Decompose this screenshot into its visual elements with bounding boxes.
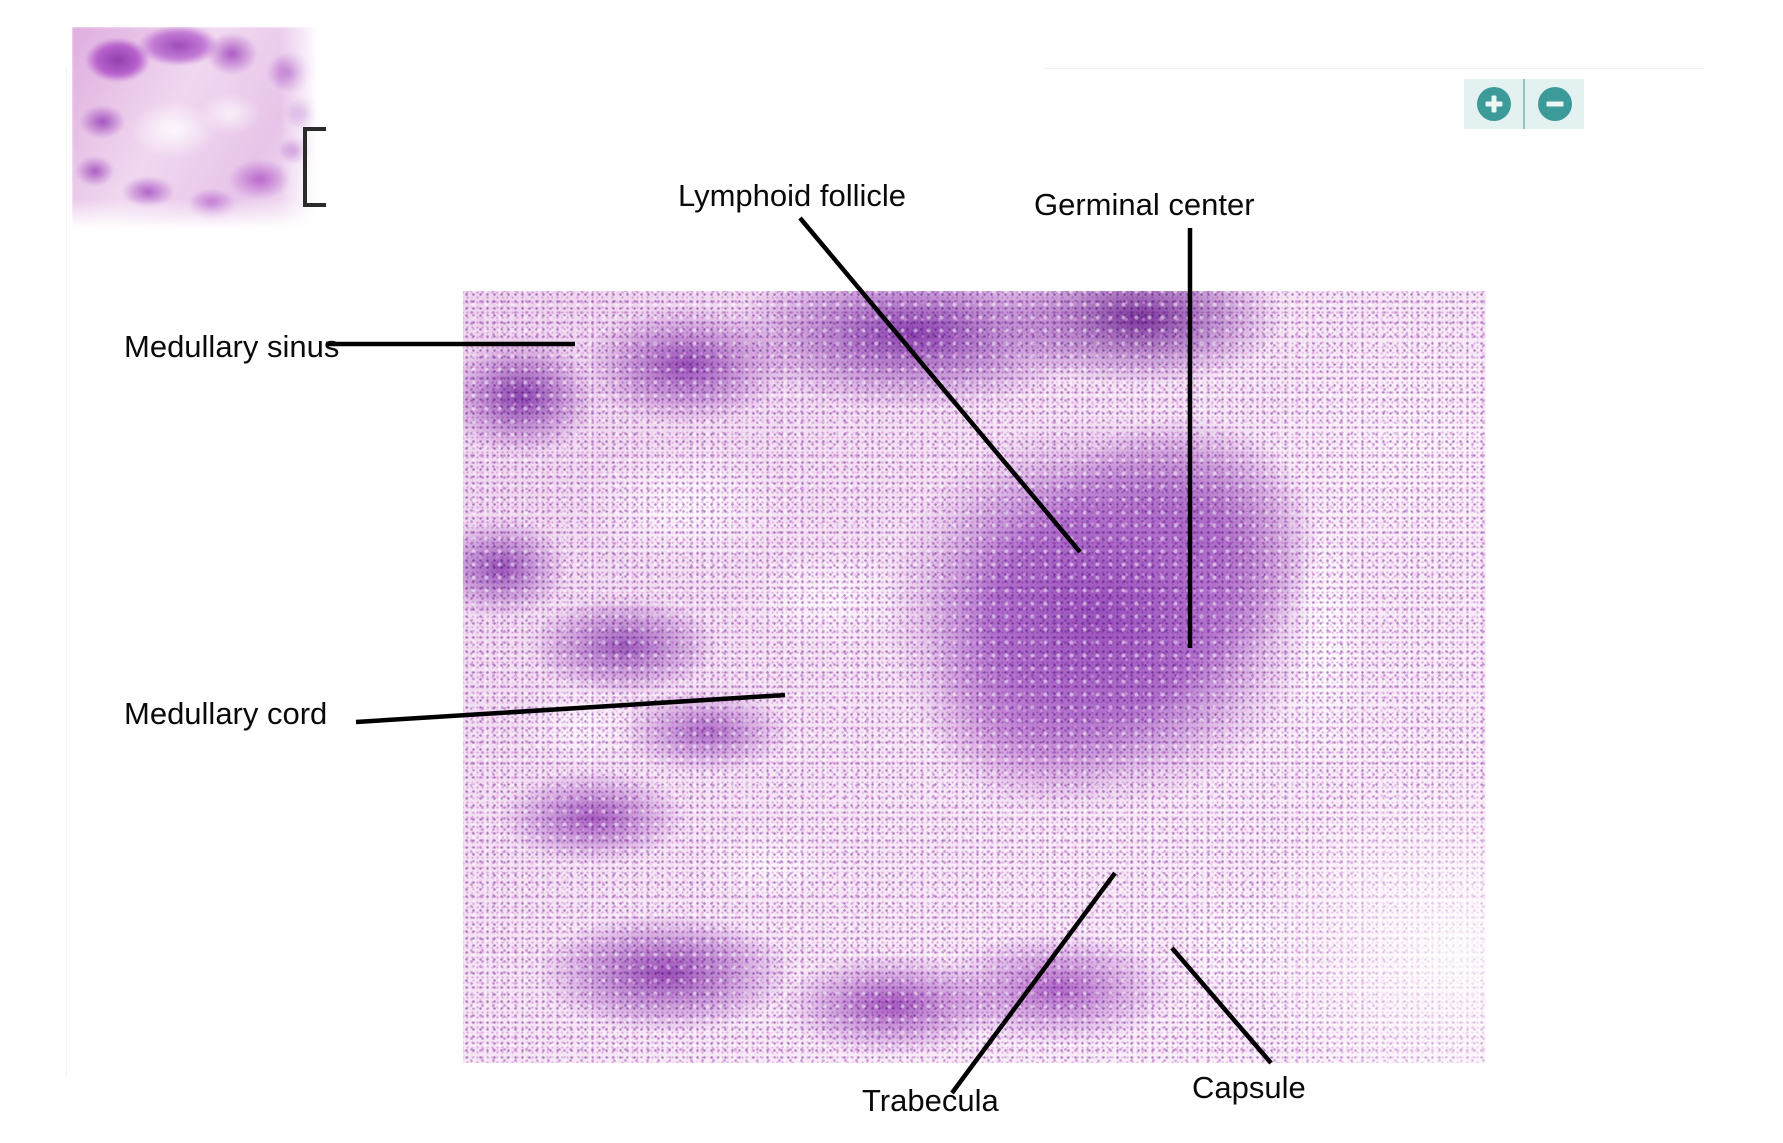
thumbnail-fade-bottom — [72, 199, 326, 233]
zoom-in-button[interactable] — [1464, 79, 1523, 129]
annotation-label-capsule: Capsule — [1192, 1072, 1306, 1103]
viewer-stage: Medullary sinus Medullary cord Lymphoid … — [0, 0, 1783, 1143]
annotation-label-medullary-cord: Medullary cord — [124, 698, 327, 729]
zoom-out-button[interactable] — [1525, 79, 1584, 129]
thumbnail-viewport-rect[interactable] — [303, 127, 326, 207]
slide-thumbnail[interactable] — [72, 27, 326, 233]
minus-icon — [1538, 87, 1572, 121]
annotation-label-germinal-center: Germinal center — [1034, 189, 1255, 220]
annotation-label-trabecula: Trabecula — [862, 1085, 999, 1116]
plus-icon — [1477, 87, 1511, 121]
annotation-label-medullary-sinus: Medullary sinus — [124, 331, 339, 362]
annotation-label-lymphoid-follicle: Lymphoid follicle — [678, 180, 906, 211]
page-rule-horizontal — [1045, 68, 1705, 69]
slide-image[interactable] — [463, 291, 1486, 1063]
zoom-controls-divider — [1523, 79, 1525, 129]
slide-highlight-texture — [463, 291, 1486, 1063]
page-rule-vertical — [66, 68, 67, 1076]
zoom-controls — [1464, 79, 1584, 129]
